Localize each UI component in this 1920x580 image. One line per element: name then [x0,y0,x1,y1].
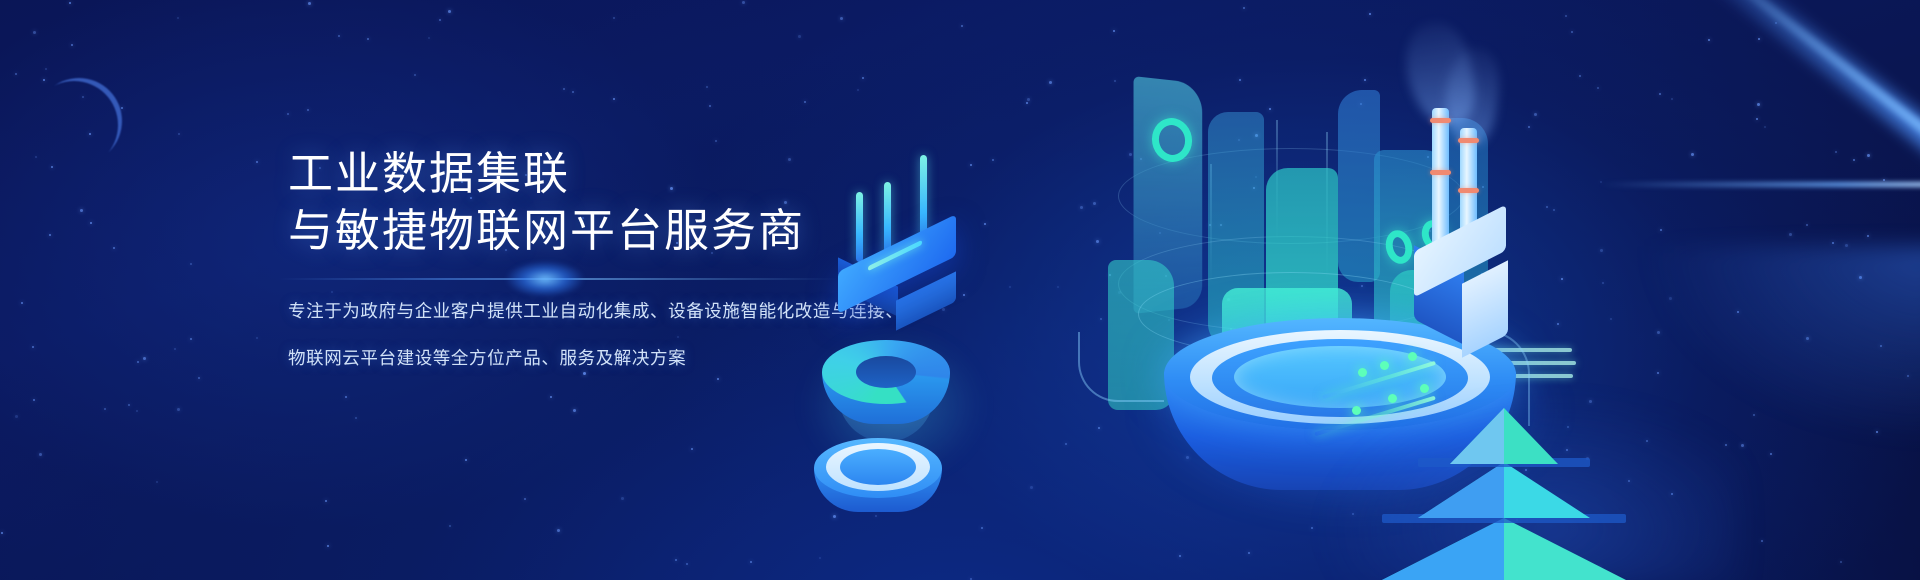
smokestack-band [1458,138,1479,143]
hero-banner: 工业数据集联 与敏捷物联网平台服务商 专注于为政府与企业客户提供工业自动化集成、… [0,0,1920,580]
router-antenna-icon [856,192,863,262]
data-dot-icon [1380,361,1389,370]
smokestack-band [1430,170,1451,175]
pyramid-tier-face [1418,462,1504,518]
pyramid-tier-face [1450,408,1504,464]
smokestack-icon [1432,108,1449,244]
data-dot-icon [1408,352,1417,361]
moon-crescent-icon [36,78,122,164]
smokestack-band [1430,118,1451,123]
data-dot-icon [1352,406,1361,415]
pyramid-tier-face [1382,518,1504,580]
connector-line [1078,332,1164,402]
pad-ring [840,449,916,485]
hero-illustration [760,0,1920,580]
headline-divider [278,278,838,280]
data-dot-icon [1358,368,1367,377]
smokestack-band [1458,188,1479,193]
data-dot-icon [1420,384,1429,393]
data-dot-icon [1388,394,1397,403]
donut-hole [856,356,916,388]
